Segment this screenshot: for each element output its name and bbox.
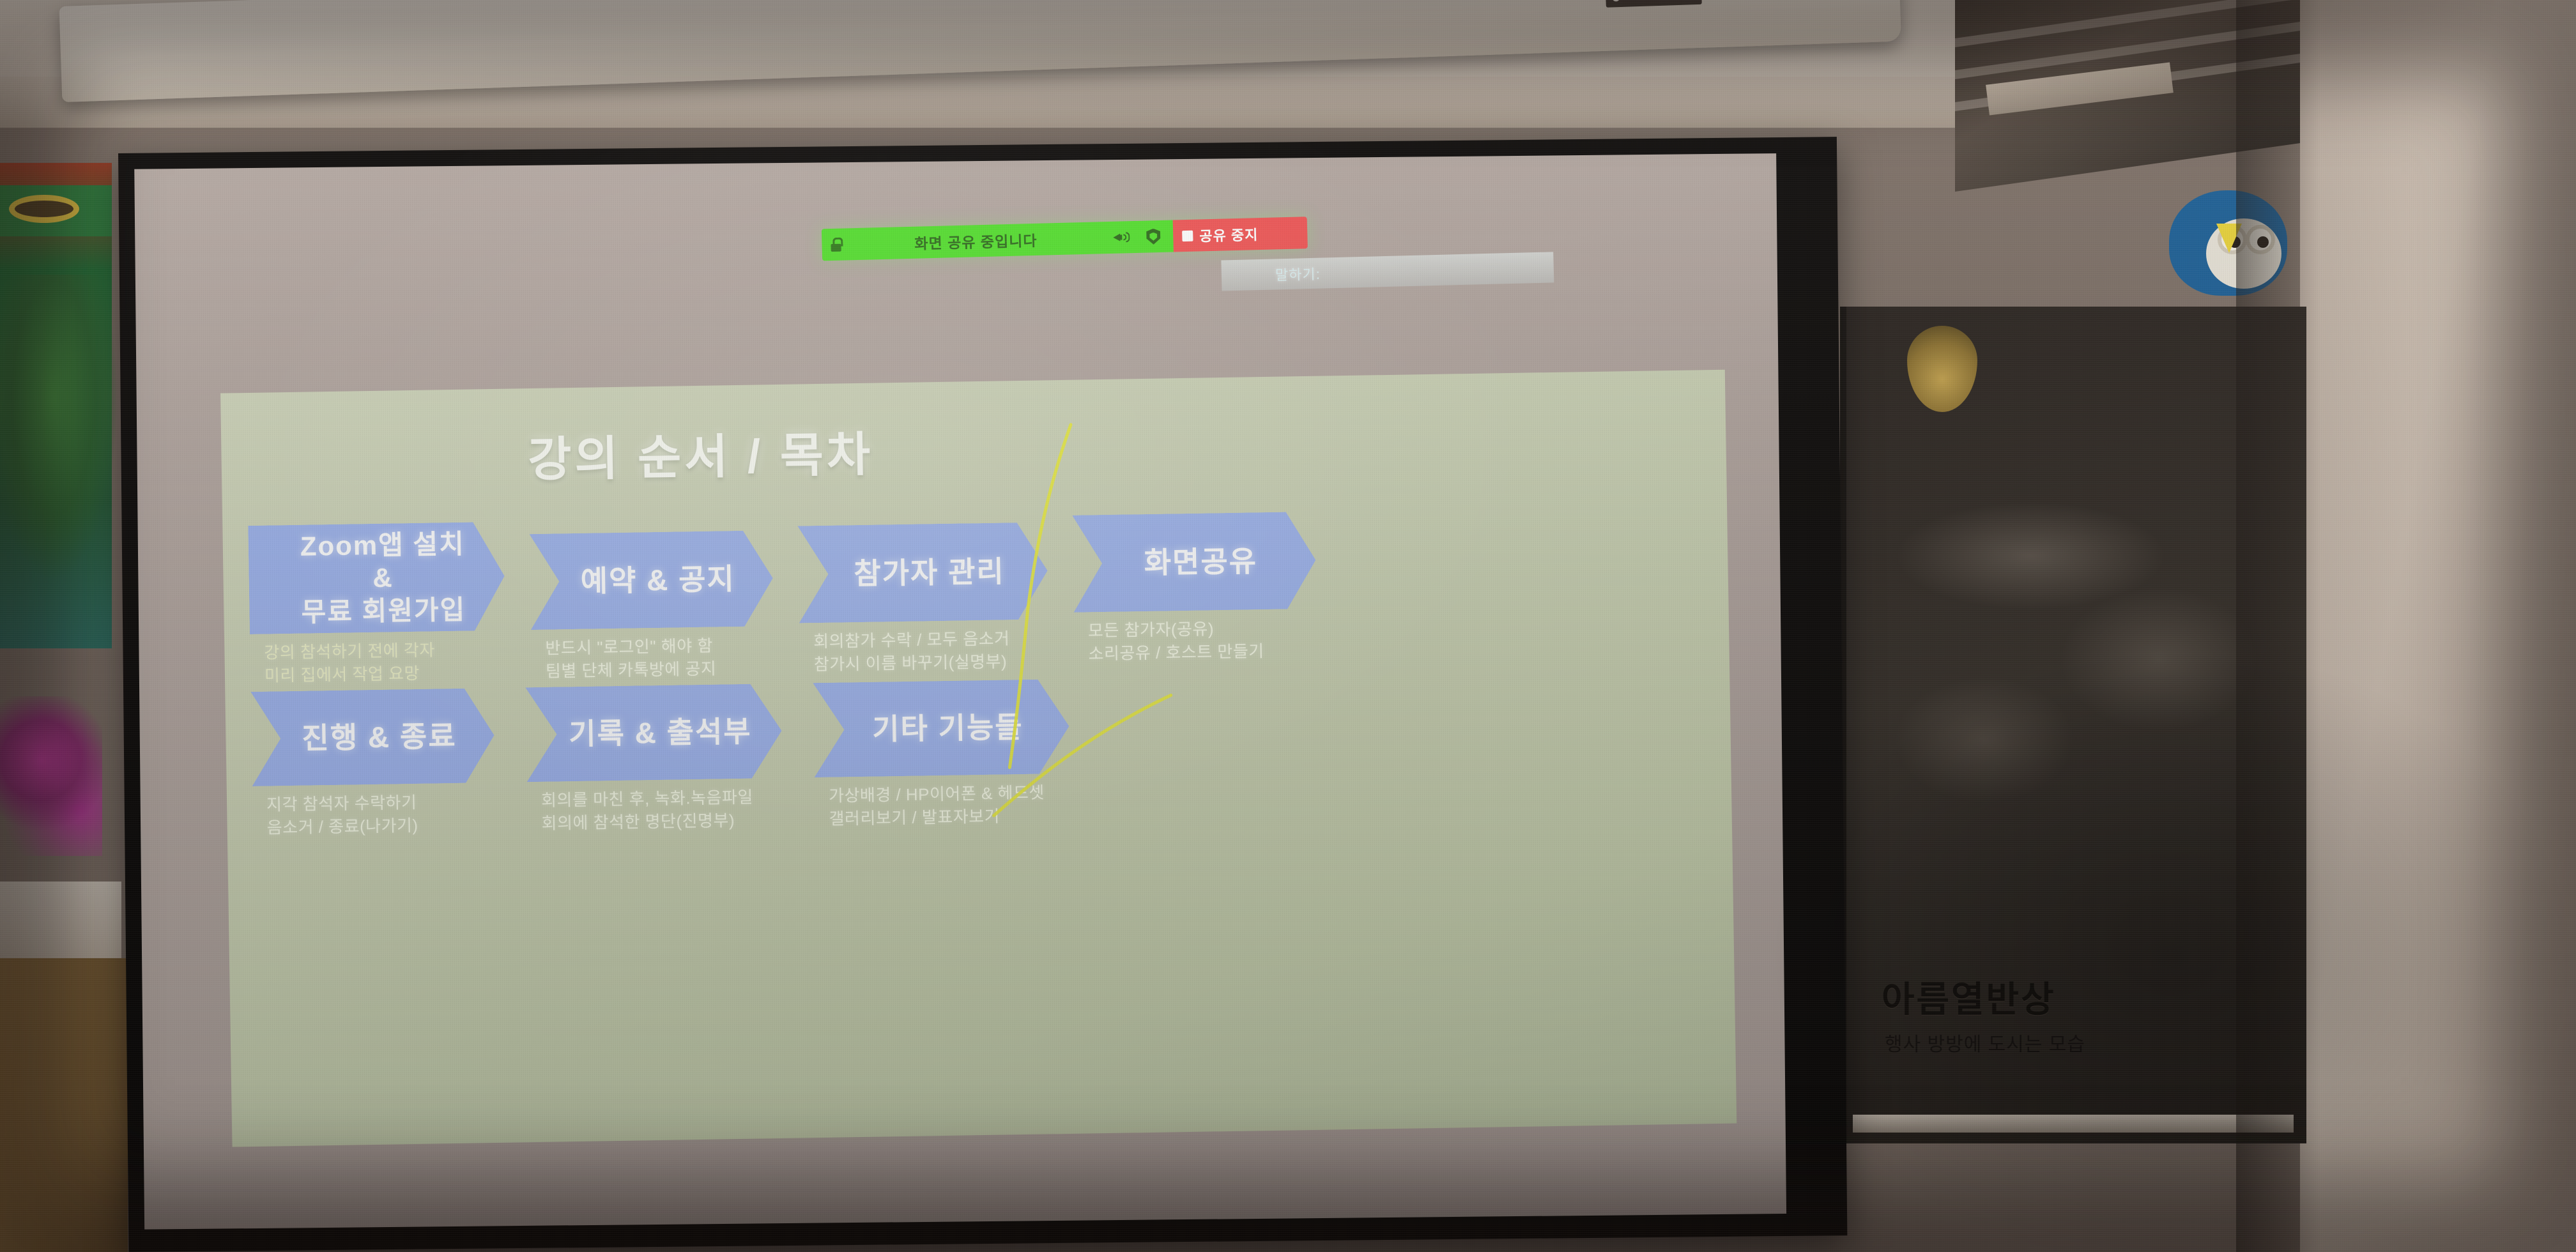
step-1-caption-line2: 미리 집에서 작업 요망 — [264, 661, 507, 688]
step-7-caption-line1: 가상배경 / HP이어폰 & 헤드셋 — [829, 781, 1071, 808]
step-1-label-line3: 무료 회원가입 — [301, 593, 466, 628]
shadow-overlay-right — [2236, 0, 2319, 1252]
step-1-label-line1: Zoom앱 설치 — [300, 528, 465, 563]
projection-surface: 화면 공유 중입니다 공유 중지 — [134, 153, 1786, 1230]
flower-decoration — [0, 696, 102, 856]
share-status-banner: 화면 공유 중입니다 — [822, 220, 1174, 261]
step-4-caption-line1: 모든 참가자(공유) — [1088, 616, 1317, 643]
step-1-chevron[interactable]: Zoom앱 설치 & 무료 회원가입 — [248, 522, 505, 634]
poster-title: 아름열반상 — [1882, 971, 2265, 1023]
step-3-caption: 회의참가 수락 / 모두 음소거 참가시 이름 바꾸기(실명부) — [799, 627, 1049, 676]
stop-share-label: 공유 중지 — [1199, 224, 1259, 245]
step-3[interactable]: 참가자 관리 회의참가 수락 / 모두 음소거 참가시 이름 바꾸기(실명부) — [797, 522, 1049, 676]
room-photograph: 아름열반상 행사 방방에 도시는 모습 화면 공유 중입니다 — [0, 0, 2576, 1252]
step-5-caption-line2: 음소거 / 종료(나가기) — [266, 813, 496, 839]
step-2-chevron[interactable]: 예약 & 공지 — [530, 530, 774, 630]
speaking-indicator-bar: 말하기: — [1221, 252, 1554, 291]
step-7-chevron[interactable]: 기타 기능들 — [813, 679, 1069, 777]
zoom-share-toolbar[interactable]: 화면 공유 중입니다 공유 중지 — [822, 217, 1308, 261]
step-1-caption-line1: 강의 참석하기 전에 각자 — [264, 638, 506, 665]
step-1-caption: 강의 참석하기 전에 각자 미리 집에서 작업 요망 — [250, 638, 506, 688]
step-4-caption: 모든 참가자(공유) 소리공유 / 호스트 만들기 — [1074, 616, 1317, 666]
step-5-chevron[interactable]: 진행 & 종료 — [250, 688, 494, 786]
speaker-icon[interactable] — [1110, 231, 1132, 244]
step-2-caption-line1: 반드시 "로그인" 해야 함 — [545, 634, 774, 660]
step-6-caption-line1: 회의를 마친 후, 녹화.녹음파일 — [541, 786, 783, 813]
share-status-label: 화면 공유 중입니다 — [851, 227, 1101, 255]
step-6[interactable]: 기록 & 출석부 회의를 마친 후, 녹화.녹음파일 회의에 참석한 명단(진명… — [525, 683, 783, 836]
step-3-label: 참가자 관리 — [854, 553, 1005, 592]
right-wall — [2300, 0, 2576, 1252]
projection-screen: 화면 공유 중입니다 공유 중지 — [118, 137, 1847, 1252]
speaking-label: 말하기: — [1275, 263, 1321, 285]
shelf-left — [0, 882, 121, 971]
step-6-chevron[interactable]: 기록 & 출석부 — [525, 683, 782, 782]
step-7-label: 기타 기능들 — [872, 709, 1023, 747]
step-7[interactable]: 기타 기능들 가상배경 / HP이어폰 & 헤드셋 갤러리보기 / 발표자보기 — [813, 679, 1071, 831]
step-6-label: 기록 & 출석부 — [569, 714, 752, 752]
step-5[interactable]: 진행 & 종료 지각 참석자 수락하기 음소거 / 종료(나가기) — [250, 688, 496, 840]
cabinet-left — [0, 958, 128, 1252]
step-4[interactable]: 화면공유 모든 참가자(공유) 소리공유 / 호스트 만들기 — [1072, 512, 1317, 666]
step-4-caption-line2: 소리공유 / 호스트 만들기 — [1088, 639, 1317, 666]
step-1-label-line2: & — [300, 560, 466, 595]
housing-brand-label — [1606, 0, 1702, 8]
plant-decoration — [0, 275, 118, 581]
step-6-caption-line2: 회의에 참석한 명단(진명부) — [541, 809, 783, 836]
step-3-caption-line2: 참가시 이름 바꾸기(실명부) — [814, 650, 1050, 676]
step-7-caption: 가상배경 / HP이어폰 & 헤드셋 갤러리보기 / 발표자보기 — [815, 781, 1071, 831]
step-1[interactable]: Zoom앱 설치 & 무료 회원가입 강의 참석하기 전에 각자 미리 집에서 … — [248, 522, 506, 688]
step-2-caption: 반드시 "로그인" 해야 함 팀별 단체 카톡방에 공지 — [531, 634, 774, 683]
stop-share-button[interactable]: 공유 중지 — [1173, 217, 1308, 252]
step-4-label: 화면공유 — [1144, 543, 1257, 581]
step-5-label: 진행 & 종료 — [302, 718, 457, 756]
step-7-caption-line2: 갤러리보기 / 발표자보기 — [829, 804, 1071, 831]
step-2[interactable]: 예약 & 공지 반드시 "로그인" 해야 함 팀별 단체 카톡방에 공지 — [530, 530, 775, 683]
step-3-chevron[interactable]: 참가자 관리 — [797, 522, 1048, 623]
poster-base — [1853, 1115, 2294, 1133]
step-4-chevron[interactable]: 화면공유 — [1072, 512, 1316, 613]
poster-subtitle: 행사 방방에 도시는 모습 — [1885, 1028, 2281, 1057]
lock-icon — [831, 238, 841, 252]
step-3-caption-line1: 회의참가 수락 / 모두 음소거 — [813, 627, 1049, 653]
step-5-caption-line1: 지각 참석자 수락하기 — [266, 790, 496, 816]
shield-icon[interactable] — [1142, 228, 1165, 245]
process-chevron-grid: Zoom앱 설치 & 무료 회원가입 강의 참석하기 전에 각자 미리 집에서 … — [220, 370, 1736, 1147]
step-2-caption-line2: 팀별 단체 카톡방에 공지 — [546, 657, 775, 683]
step-6-caption: 회의를 마친 후, 녹화.녹음파일 회의에 참석한 명단(진명부) — [527, 786, 783, 836]
stop-square-icon — [1182, 230, 1193, 241]
step-2-label: 예약 & 공지 — [580, 561, 735, 599]
step-5-caption: 지각 참석자 수락하기 음소거 / 종료(나가기) — [252, 790, 496, 840]
presentation-slide: 강의 순서 / 목차 Zoom앱 설치 & 무료 회원가입 강의 참석하 — [220, 370, 1736, 1147]
